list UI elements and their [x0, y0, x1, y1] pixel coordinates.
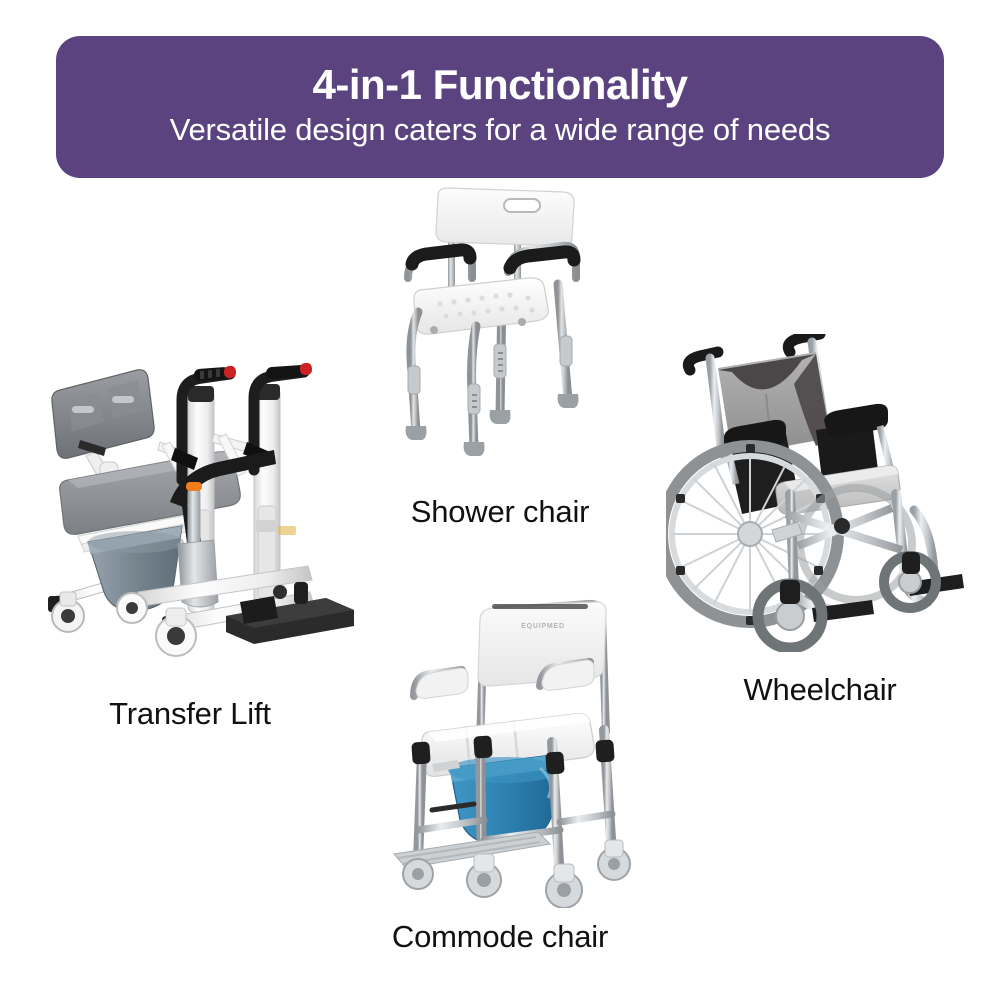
product-image-wheelchair [666, 334, 990, 652]
caption-wheelchair: Wheelchair [680, 672, 960, 708]
product-image-transfer-lift [42, 330, 372, 660]
product-image-commode-chair: EQUIPMED [388, 592, 638, 908]
commode-chair-illustration: EQUIPMED [388, 592, 638, 908]
caption-shower-chair: Shower chair [350, 494, 650, 530]
commode-brand-label: EQUIPMED [521, 623, 565, 630]
caption-transfer-lift: Transfer Lift [0, 696, 380, 732]
banner-subtitle: Versatile design caters for a wide range… [170, 113, 831, 147]
caption-commode-chair: Commode chair [345, 919, 655, 955]
banner-title: 4-in-1 Functionality [312, 63, 687, 107]
header-banner: 4-in-1 Functionality Versatile design ca… [56, 36, 944, 178]
transfer-lift-illustration [42, 330, 372, 660]
shower-chair-illustration [382, 186, 620, 486]
product-image-shower-chair [382, 186, 620, 486]
infographic-canvas: 4-in-1 Functionality Versatile design ca… [0, 0, 1000, 1000]
wheelchair-illustration [666, 334, 990, 652]
